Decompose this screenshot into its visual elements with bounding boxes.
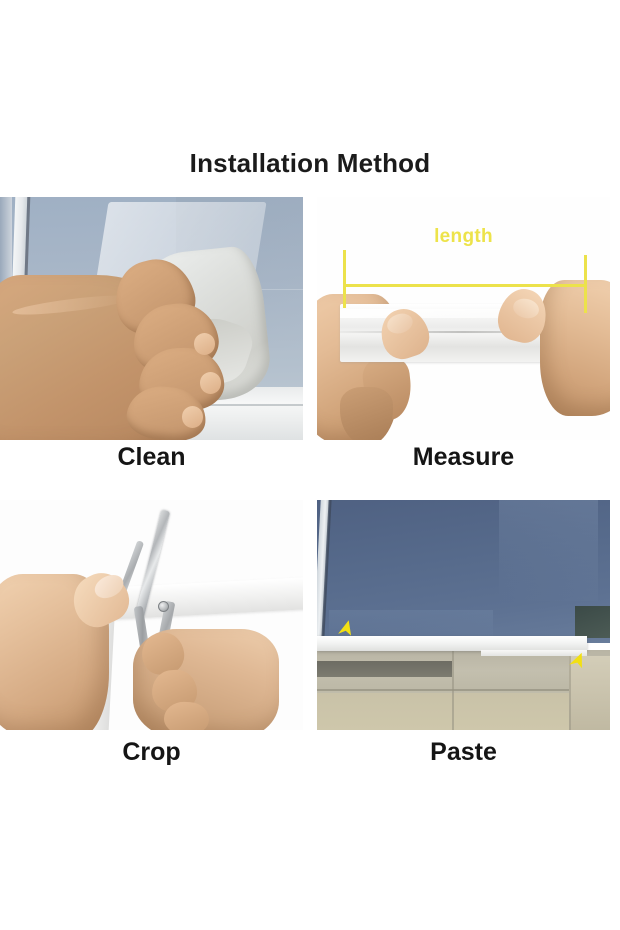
sill-dark-band (317, 661, 452, 677)
sealing-strip-installed (317, 636, 587, 651)
finger (340, 387, 393, 440)
step-caption-clean: Clean (0, 443, 303, 472)
fingernail (194, 333, 215, 355)
step-caption-crop: Crop (0, 738, 303, 767)
step-photo-crop (0, 500, 303, 730)
step-photo-clean (0, 197, 303, 440)
fingernail (200, 372, 221, 394)
step-photo-measure: length (317, 197, 610, 440)
hand-icon-right (540, 280, 610, 416)
sill-corner (569, 656, 610, 730)
sill-lower-surface (317, 693, 610, 730)
scissors-icon-pivot (158, 601, 169, 612)
dimension-line (343, 284, 586, 287)
length-annotation-label: length (317, 226, 610, 248)
dark-object (575, 606, 610, 638)
dimension-bracket-icon-left (343, 250, 346, 308)
sill-seam-vertical (452, 650, 454, 731)
sealing-strip-tail (481, 650, 586, 657)
sill-seam (317, 689, 610, 691)
instruction-graphic: Installation Method Clean (0, 0, 620, 930)
step-caption-paste: Paste (317, 738, 610, 767)
finger (163, 702, 210, 730)
step-photo-paste (317, 500, 610, 730)
page-title: Installation Method (0, 148, 620, 179)
step-caption-measure: Measure (317, 443, 610, 472)
fingernail (182, 406, 203, 428)
glass-reflection (499, 500, 599, 601)
